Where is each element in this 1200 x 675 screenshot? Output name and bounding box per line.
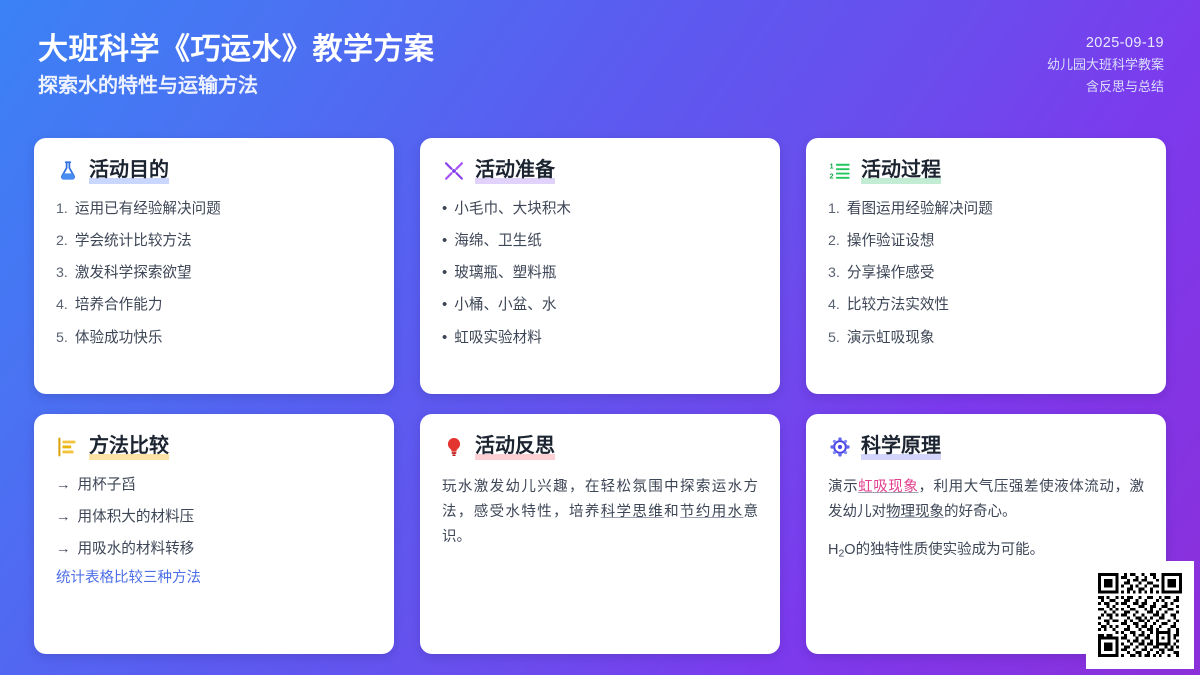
list-item: 2.操作验证设想: [828, 231, 1144, 252]
bar-chart-icon: [56, 435, 80, 459]
method-list: →用杯子舀 →用体积大的材料压 →用吸水的材料转移: [56, 475, 372, 560]
principle-paragraph-1: 演示虹吸现象，利用大气压强差使液体流动，激发幼儿对物理现象的好奇心。: [828, 475, 1144, 525]
list-item: 5.演示虹吸现象: [828, 328, 1144, 349]
list-item-text: 小毛巾、大块积木: [454, 199, 758, 220]
header-meta-line-1: 幼儿园大班科学教案: [1047, 54, 1164, 73]
arrow-icon: →: [56, 475, 71, 496]
list-marker: 3.: [828, 263, 840, 284]
card-activity-process[interactable]: 1 2 活动过程 1.看图运用经验解决问题 2.操作验证设想 3.分享操作感受 …: [806, 138, 1166, 394]
list-marker: 4.: [56, 295, 68, 316]
list-item: 4.培养合作能力: [56, 295, 372, 316]
text-segment-underlined: 节约用水: [680, 504, 743, 520]
card-title: 科学原理: [861, 434, 941, 460]
text-segment: H: [828, 542, 838, 558]
list-marker: 2.: [56, 231, 68, 252]
header-meta-line-2: 含反思与总结: [1086, 76, 1164, 95]
page-title: 大班科学《巧运水》教学方案: [38, 31, 435, 69]
list-marker: 4.: [828, 295, 840, 316]
card-activity-reflection[interactable]: 活动反思 玩水激发幼儿兴趣，在轻松氛围中探索运水方法，感受水特性，培养科学思维和…: [420, 414, 780, 654]
list-item: 1.看图运用经验解决问题: [828, 199, 1144, 220]
card-header: 活动准备: [442, 158, 758, 184]
list-item-text: 运用已有经验解决问题: [75, 199, 372, 220]
list-item: •玻璃瓶、塑料瓶: [442, 263, 758, 284]
slide-header: 大班科学《巧运水》教学方案 探索水的特性与运输方法 2025-09-19 幼儿园…: [0, 0, 1200, 130]
list-item-text: 操作验证设想: [847, 231, 1144, 252]
numbered-list-icon: 1 2: [828, 159, 852, 183]
purpose-list: 1.运用已有经验解决问题 2.学会统计比较方法 3.激发科学探索欲望 4.培养合…: [56, 199, 372, 349]
card-title: 方法比较: [89, 434, 169, 460]
reflection-paragraph: 玩水激发幼儿兴趣，在轻松氛围中探索运水方法，感受水特性，培养科学思维和节约用水意…: [442, 475, 758, 550]
list-marker: 5.: [56, 328, 68, 349]
card-header: 1 2 活动过程: [828, 158, 1144, 184]
header-date: 2025-09-19: [1086, 35, 1164, 51]
list-item-text: 玻璃瓶、塑料瓶: [454, 263, 758, 284]
arrow-icon: →: [56, 507, 71, 528]
statistics-table-link[interactable]: 统计表格比较三种方法: [56, 566, 372, 587]
tools-icon: [442, 159, 466, 183]
list-item-text: 体验成功快乐: [75, 328, 372, 349]
svg-text:2: 2: [829, 171, 833, 180]
list-item-text: 看图运用经验解决问题: [847, 199, 1144, 220]
qr-code-panel[interactable]: [1086, 561, 1194, 669]
list-marker: 1.: [828, 199, 840, 220]
list-item: •海绵、卫生纸: [442, 231, 758, 252]
card-title: 活动准备: [475, 158, 555, 184]
list-item-text: 用吸水的材料转移: [78, 539, 373, 560]
card-header: 科学原理: [828, 434, 1144, 460]
card-activity-purpose[interactable]: 活动目的 1.运用已有经验解决问题 2.学会统计比较方法 3.激发科学探索欲望 …: [34, 138, 394, 394]
header-title-group: 大班科学《巧运水》教学方案 探索水的特性与运输方法: [38, 31, 435, 99]
list-item: •虹吸实验材料: [442, 328, 758, 349]
card-title: 活动目的: [89, 158, 169, 184]
preparation-list: •小毛巾、大块积木 •海绵、卫生纸 •玻璃瓶、塑料瓶 •小桶、小盆、水 •虹吸实…: [442, 199, 758, 349]
list-item: →用杯子舀: [56, 475, 372, 496]
page-subtitle: 探索水的特性与运输方法: [38, 73, 435, 99]
text-segment: 和: [664, 504, 680, 520]
list-item-text: 演示虹吸现象: [847, 328, 1144, 349]
card-method-comparison[interactable]: 方法比较 →用杯子舀 →用体积大的材料压 →用吸水的材料转移 统计表格比较三种方…: [34, 414, 394, 654]
list-item: 5.体验成功快乐: [56, 328, 372, 349]
list-item-text: 分享操作感受: [847, 263, 1144, 284]
list-marker: 2.: [828, 231, 840, 252]
list-item: 4.比较方法实效性: [828, 295, 1144, 316]
list-item-text: 比较方法实效性: [847, 295, 1144, 316]
card-title: 活动过程: [861, 158, 941, 184]
list-item-text: 海绵、卫生纸: [454, 231, 758, 252]
slide-canvas: 大班科学《巧运水》教学方案 探索水的特性与运输方法 2025-09-19 幼儿园…: [0, 0, 1200, 675]
card-activity-preparation[interactable]: 活动准备 •小毛巾、大块积木 •海绵、卫生纸 •玻璃瓶、塑料瓶 •小桶、小盆、水…: [420, 138, 780, 394]
text-segment-underlined: 科学思维: [601, 504, 664, 520]
header-meta-group: 2025-09-19 幼儿园大班科学教案 含反思与总结: [1047, 35, 1164, 95]
card-header: 活动目的: [56, 158, 372, 184]
bullet-icon: •: [442, 330, 447, 345]
list-item-text: 虹吸实验材料: [454, 328, 758, 349]
text-segment-highlight: 虹吸现象: [858, 479, 918, 495]
list-item-text: 小桶、小盆、水: [454, 295, 758, 316]
bullet-icon: •: [442, 297, 447, 312]
list-item-text: 用体积大的材料压: [78, 507, 373, 528]
list-item-text: 用杯子舀: [78, 475, 373, 496]
text-segment-underlined: 物理现象: [886, 504, 944, 520]
list-item: →用体积大的材料压: [56, 507, 372, 528]
text-segment: 的好奇心。: [944, 504, 1017, 520]
process-list: 1.看图运用经验解决问题 2.操作验证设想 3.分享操作感受 4.比较方法实效性…: [828, 199, 1144, 349]
list-item: 3.分享操作感受: [828, 263, 1144, 284]
list-item: •小毛巾、大块积木: [442, 199, 758, 220]
list-marker: 5.: [828, 328, 840, 349]
text-segment: 演示: [828, 479, 858, 495]
list-item: •小桶、小盆、水: [442, 295, 758, 316]
list-marker: 3.: [56, 263, 68, 284]
list-item: →用吸水的材料转移: [56, 539, 372, 560]
atom-icon: [828, 435, 852, 459]
qr-code: [1098, 573, 1182, 657]
card-header: 方法比较: [56, 434, 372, 460]
card-header: 活动反思: [442, 434, 758, 460]
list-item: 3.激发科学探索欲望: [56, 263, 372, 284]
text-segment: O的独特性质使实验成为可能。: [844, 542, 1044, 558]
lightbulb-icon: [442, 435, 466, 459]
list-marker: 1.: [56, 199, 68, 220]
card-title: 活动反思: [475, 434, 555, 460]
bullet-icon: •: [442, 265, 447, 280]
arrow-icon: →: [56, 539, 71, 560]
principle-paragraph-2: H2O的独特性质使实验成为可能。: [828, 538, 1144, 563]
flask-icon: [56, 159, 80, 183]
list-item-text: 培养合作能力: [75, 295, 372, 316]
list-item: 2.学会统计比较方法: [56, 231, 372, 252]
list-item-text: 激发科学探索欲望: [75, 263, 372, 284]
card-grid: 活动目的 1.运用已有经验解决问题 2.学会统计比较方法 3.激发科学探索欲望 …: [34, 138, 1166, 654]
bullet-icon: •: [442, 201, 447, 216]
list-item: 1.运用已有经验解决问题: [56, 199, 372, 220]
svg-text:1: 1: [829, 161, 833, 170]
list-item-text: 学会统计比较方法: [75, 231, 372, 252]
bullet-icon: •: [442, 233, 447, 248]
